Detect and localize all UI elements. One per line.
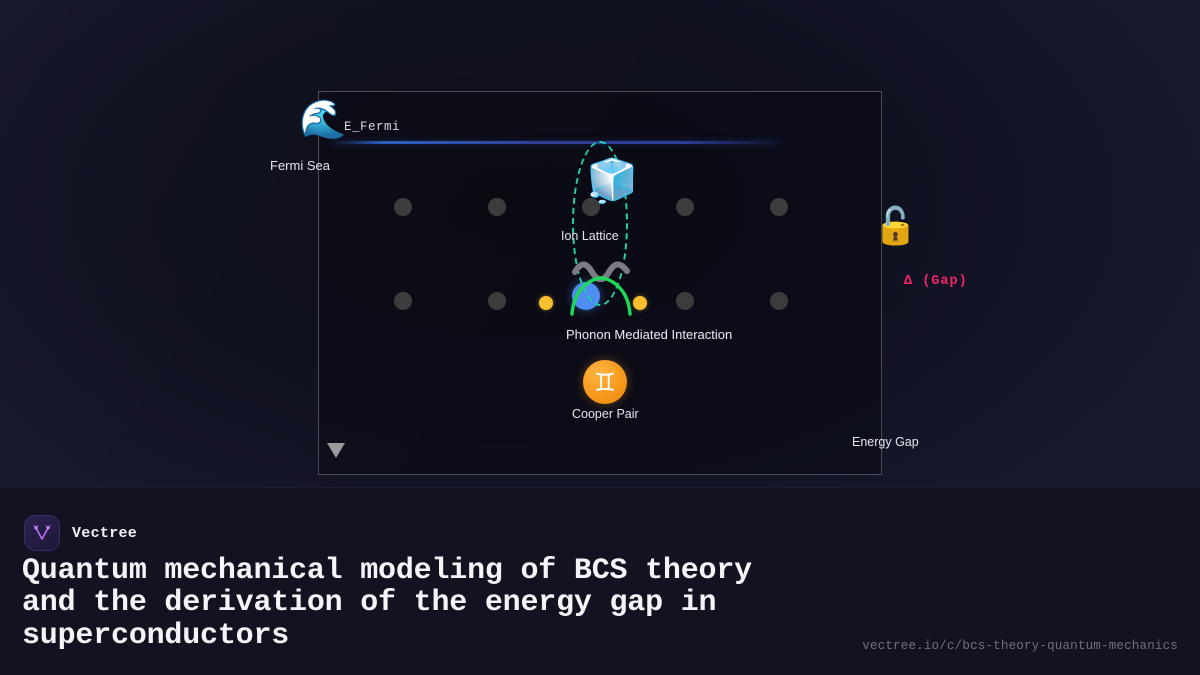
ion-dot [488, 292, 506, 310]
diagram-canvas[interactable]: 🌊 E_Fermi Fermi Sea 🧊 Ion Lattice Phonon… [0, 0, 1200, 487]
ion-dot [770, 198, 788, 216]
brand-row: Vectree [24, 515, 137, 551]
energy-gap-delta-label: Δ (Gap) [904, 274, 968, 289]
cooper-pair-icon[interactable]: ♊ [583, 360, 627, 404]
ice-cube-icon: 🧊 [586, 160, 638, 202]
ion-dot [394, 198, 412, 216]
energy-gap-label: Energy Gap [852, 435, 919, 449]
gemini-glyph: ♊ [594, 368, 616, 397]
electron-dot[interactable] [633, 296, 647, 310]
page-url: vectree.io/c/bcs-theory-quantum-mechanic… [862, 639, 1178, 653]
phonon-interaction-label: Phonon Mediated Interaction [566, 327, 732, 342]
fermi-level-line [330, 141, 780, 144]
ion-dot [676, 198, 694, 216]
footer-bar: Vectree Quantum mechanical modeling of B… [0, 487, 1200, 675]
triangle-down-icon[interactable] [326, 441, 346, 459]
ion-lattice-label: Ion Lattice [561, 229, 619, 243]
brand-name: Vectree [72, 525, 137, 542]
ion-dot [488, 198, 506, 216]
cooper-pair-label: Cooper Pair [572, 407, 639, 421]
fermi-level-label: E_Fermi [344, 120, 400, 134]
water-wave-icon: 🌊 [299, 100, 346, 138]
vectree-logo-icon [24, 515, 60, 551]
ion-dot [394, 292, 412, 310]
vectree-mark [31, 522, 53, 544]
open-lock-icon: 🔓 [873, 209, 918, 245]
page-title: Quantum mechanical modeling of BCS theor… [22, 555, 802, 652]
ion-dot [676, 292, 694, 310]
electron-dot[interactable] [539, 296, 553, 310]
ion-dot [770, 292, 788, 310]
fermi-sea-label: Fermi Sea [270, 158, 330, 173]
phonon-attraction-arc [568, 276, 634, 316]
